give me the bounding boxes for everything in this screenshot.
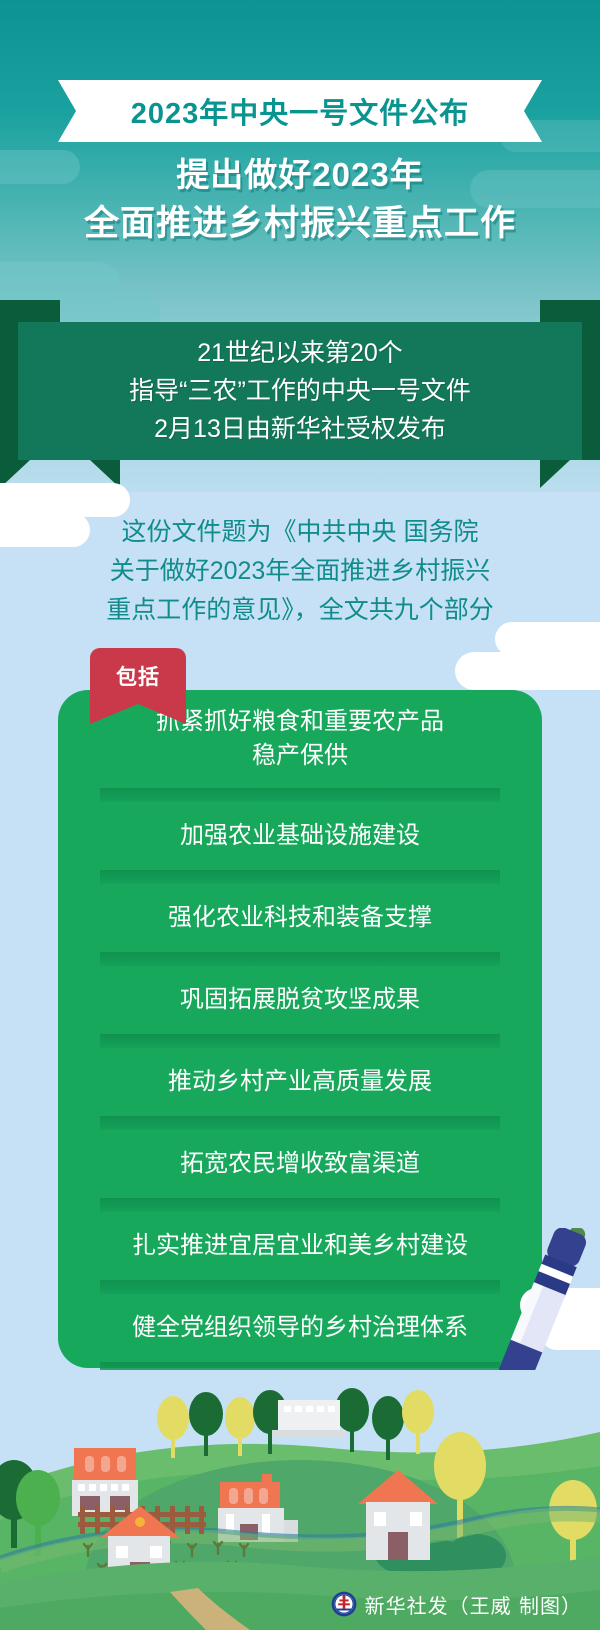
green-banner-line-1: 21世纪以来第20个 <box>129 334 471 372</box>
list-divider <box>100 870 500 884</box>
list-item-label: 拓宽农民增收致富渠道 <box>168 1147 432 1181</box>
headline-line-1: 提出做好2023年 <box>0 150 600 199</box>
credit-line: 新华社发（王威 制图） <box>0 1587 600 1621</box>
list-divider <box>100 1280 500 1294</box>
list-divider <box>100 788 500 802</box>
list-item-label: 推动乡村产业高质量发展 <box>156 1065 444 1099</box>
green-banner-text: 21世纪以来第20个 指导“三农”工作的中央一号文件 2月13日由新华社受权发布 <box>129 334 471 448</box>
list-item: 巩固拓展脱贫攻坚成果 <box>58 966 542 1034</box>
decorative-cloud-icon <box>0 483 130 517</box>
list-item: 推动乡村产业高质量发展 <box>58 1048 542 1116</box>
list-item-label: 抓紧抓好粮食和重要农产品 稳产保供 <box>144 705 456 773</box>
list-item: 加强农业基础设施建设 <box>58 802 542 870</box>
infographic-poster: 2023年中央一号文件公布 提出做好2023年 全面推进乡村振兴重点工作 21世… <box>0 0 600 1630</box>
list-item: 拓宽农民增收致富渠道 <box>58 1130 542 1198</box>
ribbon-banner: 2023年中央一号文件公布 <box>58 80 542 142</box>
list-item-label: 加强农业基础设施建设 <box>168 819 432 853</box>
headline-line-2: 全面推进乡村振兴重点工作 <box>0 199 600 248</box>
list-item-line-2: 稳产保供 <box>156 739 444 773</box>
ribbon-title: 2023年中央一号文件公布 <box>131 90 470 132</box>
list-item: 强化农业科技和装备支撑 <box>58 884 542 952</box>
green-banner-line-3: 2月13日由新华社受权发布 <box>129 410 471 448</box>
include-tag-label: 包括 <box>116 661 160 691</box>
building-icon <box>272 1400 346 1438</box>
page-title: 提出做好2023年 全面推进乡村振兴重点工作 <box>0 150 600 248</box>
house-icon <box>72 1448 138 1516</box>
decorative-cloud-icon <box>455 652 600 690</box>
list-item-line-1: 抓紧抓好粮食和重要农产品 <box>156 705 444 739</box>
list-divider <box>100 1116 500 1130</box>
green-banner-line-2: 指导“三农”工作的中央一号文件 <box>129 372 471 410</box>
paragraph-line-1: 这份文件题为《中共中央 国务院 <box>0 513 600 552</box>
credit-text: 新华社发（王威 制图） <box>365 1590 582 1619</box>
list-item-label: 强化农业科技和装备支撑 <box>156 901 444 935</box>
list-item-label: 巩固拓展脱贫攻坚成果 <box>168 983 432 1017</box>
intro-paragraph: 这份文件题为《中共中央 国务院 关于做好2023年全面推进乡村振兴 重点工作的意… <box>0 513 600 630</box>
xinhua-logo-icon <box>331 1591 357 1617</box>
banner-fold-right <box>540 460 600 488</box>
green-banner: 21世纪以来第20个 指导“三农”工作的中央一号文件 2月13日由新华社受权发布 <box>18 322 582 460</box>
list-item: 健全党组织领导的乡村治理体系 <box>58 1294 542 1362</box>
decorative-cloud-icon <box>495 622 600 656</box>
list-divider <box>100 1034 500 1048</box>
list-item-label: 健全党组织领导的乡村治理体系 <box>120 1311 480 1345</box>
list-item: 扎实推进宜居宜业和美乡村建设 <box>58 1212 542 1280</box>
list-divider <box>100 1198 500 1212</box>
paragraph-line-2: 关于做好2023年全面推进乡村振兴 <box>0 552 600 591</box>
list-container: 抓紧抓好粮食和重要农产品 稳产保供 加强农业基础设施建设 强化农业科技和装备支撑… <box>58 690 542 1444</box>
list-item-label: 扎实推进宜居宜业和美乡村建设 <box>120 1229 480 1263</box>
list-divider <box>100 952 500 966</box>
